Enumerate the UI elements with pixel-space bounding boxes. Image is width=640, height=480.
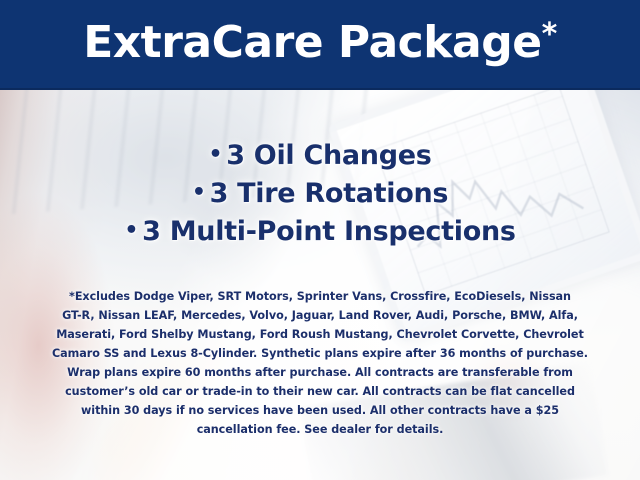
page-title-text: ExtraCare Package xyxy=(83,17,541,68)
benefit-item-label: 3 Multi-Point Inspections xyxy=(142,216,516,247)
bullet-dot-icon: • xyxy=(208,142,226,167)
benefits-list: •3 Oil Changes •3 Tire Rotations •3 Mult… xyxy=(0,138,640,252)
benefit-item: •3 Multi-Point Inspections xyxy=(0,214,640,252)
disclaimer-line: Wrap plans expire 60 months after purcha… xyxy=(18,363,622,382)
benefit-item-label: 3 Oil Changes xyxy=(226,140,431,171)
disclaimer-text: *Excludes Dodge Viper, SRT Motors, Sprin… xyxy=(0,287,640,439)
disclaimer-line: within 30 days if no services have been … xyxy=(18,401,622,420)
disclaimer-line: cancellation fee. See dealer for details… xyxy=(18,420,622,439)
disclaimer-line: *Excludes Dodge Viper, SRT Motors, Sprin… xyxy=(18,287,622,306)
header-band: ExtraCare Package* xyxy=(0,0,640,90)
benefit-item: •3 Tire Rotations xyxy=(0,176,640,214)
footnote-asterisk: * xyxy=(542,17,557,52)
page-title: ExtraCare Package* xyxy=(83,21,557,65)
disclaimer-line: GT-R, Nissan LEAF, Mercedes, Volvo, Jagu… xyxy=(18,306,622,325)
extracare-promo-banner: ExtraCare Package* •3 Oil Changes •3 Tir… xyxy=(0,0,640,480)
disclaimer-line: customer’s old car or trade-in to their … xyxy=(18,382,622,401)
disclaimer-line: Camaro SS and Lexus 8-Cylinder. Syntheti… xyxy=(18,344,622,363)
bullet-dot-icon: • xyxy=(192,180,210,205)
benefit-item-label: 3 Tire Rotations xyxy=(210,178,449,209)
disclaimer-line: Maserati, Ford Shelby Mustang, Ford Rous… xyxy=(18,325,622,344)
bullet-dot-icon: • xyxy=(124,218,142,243)
benefit-item: •3 Oil Changes xyxy=(0,138,640,176)
